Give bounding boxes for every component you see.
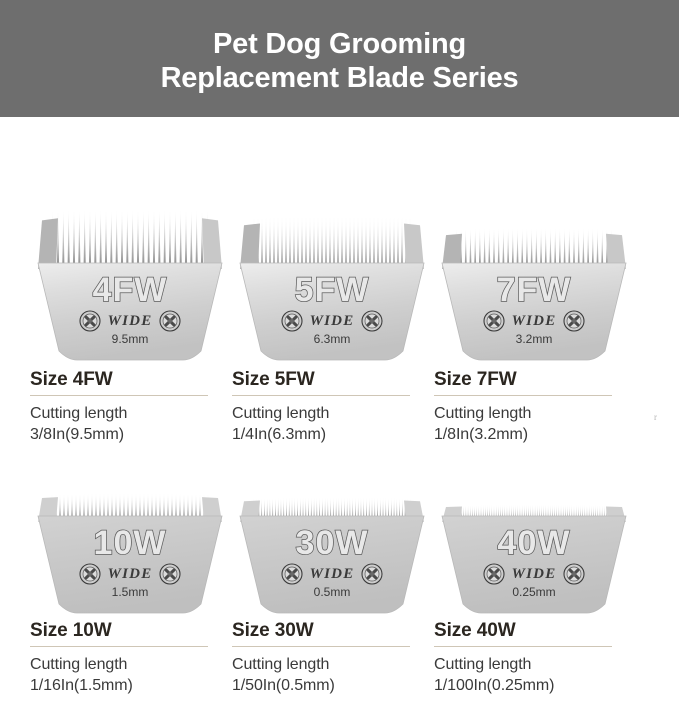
- svg-text:WIDE: WIDE: [512, 313, 557, 329]
- blade-image-40w: 40W WIDE 0.25mm: [440, 503, 628, 616]
- blade-image-10w: 10W WIDE 1.5mm: [36, 492, 224, 616]
- svg-text:WIDE: WIDE: [310, 313, 355, 329]
- blade-cell-5fw: 5FW WIDE 6.3mm: [232, 215, 432, 363]
- caption-row-2: Size 10W Cutting length 1/16In(1.5mm) Si…: [0, 616, 679, 701]
- svg-text:40W: 40W: [498, 524, 571, 562]
- svg-text:10W: 10W: [94, 524, 167, 562]
- blade-cell-4fw: 4FW WIDE 9.5mm: [30, 209, 230, 363]
- blade-grid-row-2: 10W WIDE 1.5mm 30W WIDE: [0, 460, 679, 616]
- blade-image-7fw: 7FW WIDE 3.2mm: [440, 227, 628, 363]
- cutting-length-label-40w: Cutting length: [434, 654, 618, 675]
- svg-text:0.5mm: 0.5mm: [314, 585, 351, 599]
- svg-text:WIDE: WIDE: [108, 566, 153, 582]
- size-title-4fw: Size 4FW: [30, 369, 214, 391]
- svg-text:9.5mm: 9.5mm: [112, 332, 149, 346]
- blade-cell-7fw: 7FW WIDE 3.2mm: [434, 227, 634, 363]
- svg-text:6.3mm: 6.3mm: [314, 332, 351, 346]
- size-rule-4fw: [30, 395, 208, 396]
- size-title-30w: Size 30W: [232, 620, 416, 642]
- page-title-line-1: Pet Dog Grooming: [213, 27, 466, 61]
- caption-7fw: Size 7FW Cutting length 1/8In(3.2mm): [434, 369, 634, 460]
- svg-text:3.2mm: 3.2mm: [516, 332, 553, 346]
- svg-text:30W: 30W: [296, 524, 369, 562]
- cutting-length-label-7fw: Cutting length: [434, 403, 618, 424]
- blade-grid-row-1: 4FW WIDE 9.5mm 5FW WIDE: [0, 117, 679, 363]
- svg-text:WIDE: WIDE: [108, 313, 153, 329]
- size-title-5fw: Size 5FW: [232, 369, 416, 391]
- cutting-length-label-5fw: Cutting length: [232, 403, 416, 424]
- cutting-length-value-10w: 1/16In(1.5mm): [30, 675, 214, 696]
- caption-5fw: Size 5FW Cutting length 1/4In(6.3mm): [232, 369, 432, 460]
- svg-text:1.5mm: 1.5mm: [112, 585, 149, 599]
- size-title-40w: Size 40W: [434, 620, 618, 642]
- caption-40w: Size 40W Cutting length 1/100In(0.25mm): [434, 620, 634, 701]
- cutting-length-value-7fw: 1/8In(3.2mm): [434, 424, 618, 445]
- blade-cell-30w: 30W WIDE 0.5mm: [232, 496, 432, 616]
- scan-artifact: r: [654, 414, 658, 421]
- blade-image-4fw: 4FW WIDE 9.5mm: [36, 209, 224, 363]
- svg-text:WIDE: WIDE: [310, 566, 355, 582]
- cutting-length-label-30w: Cutting length: [232, 654, 416, 675]
- caption-30w: Size 30W Cutting length 1/50In(0.5mm): [232, 620, 432, 701]
- blade-image-5fw: 5FW WIDE 6.3mm: [238, 215, 426, 363]
- blade-image-30w: 30W WIDE 0.5mm: [238, 496, 426, 616]
- size-title-7fw: Size 7FW: [434, 369, 618, 391]
- cutting-length-value-4fw: 3/8In(9.5mm): [30, 424, 214, 445]
- cutting-length-value-5fw: 1/4In(6.3mm): [232, 424, 416, 445]
- size-rule-5fw: [232, 395, 410, 396]
- size-rule-40w: [434, 646, 612, 647]
- blade-cell-10w: 10W WIDE 1.5mm: [30, 492, 230, 616]
- cutting-length-label-10w: Cutting length: [30, 654, 214, 675]
- cutting-length-label-4fw: Cutting length: [30, 403, 214, 424]
- cutting-length-value-40w: 1/100In(0.25mm): [434, 675, 618, 696]
- caption-10w: Size 10W Cutting length 1/16In(1.5mm): [30, 620, 230, 701]
- header-banner: Pet Dog Grooming Replacement Blade Serie…: [0, 0, 679, 117]
- size-rule-7fw: [434, 395, 612, 396]
- cutting-length-value-30w: 1/50In(0.5mm): [232, 675, 416, 696]
- svg-text:5FW: 5FW: [295, 271, 370, 309]
- caption-4fw: Size 4FW Cutting length 3/8In(9.5mm): [30, 369, 230, 460]
- caption-row-1: Size 4FW Cutting length 3/8In(9.5mm) Siz…: [0, 363, 679, 460]
- svg-text:0.25mm: 0.25mm: [512, 585, 555, 599]
- size-rule-10w: [30, 646, 208, 647]
- page-title-line-2: Replacement Blade Series: [161, 61, 519, 95]
- size-title-10w: Size 10W: [30, 620, 214, 642]
- svg-text:7FW: 7FW: [497, 271, 572, 309]
- svg-text:4FW: 4FW: [93, 271, 168, 309]
- blade-cell-40w: 40W WIDE 0.25mm: [434, 503, 634, 616]
- svg-text:WIDE: WIDE: [512, 566, 557, 582]
- size-rule-30w: [232, 646, 410, 647]
